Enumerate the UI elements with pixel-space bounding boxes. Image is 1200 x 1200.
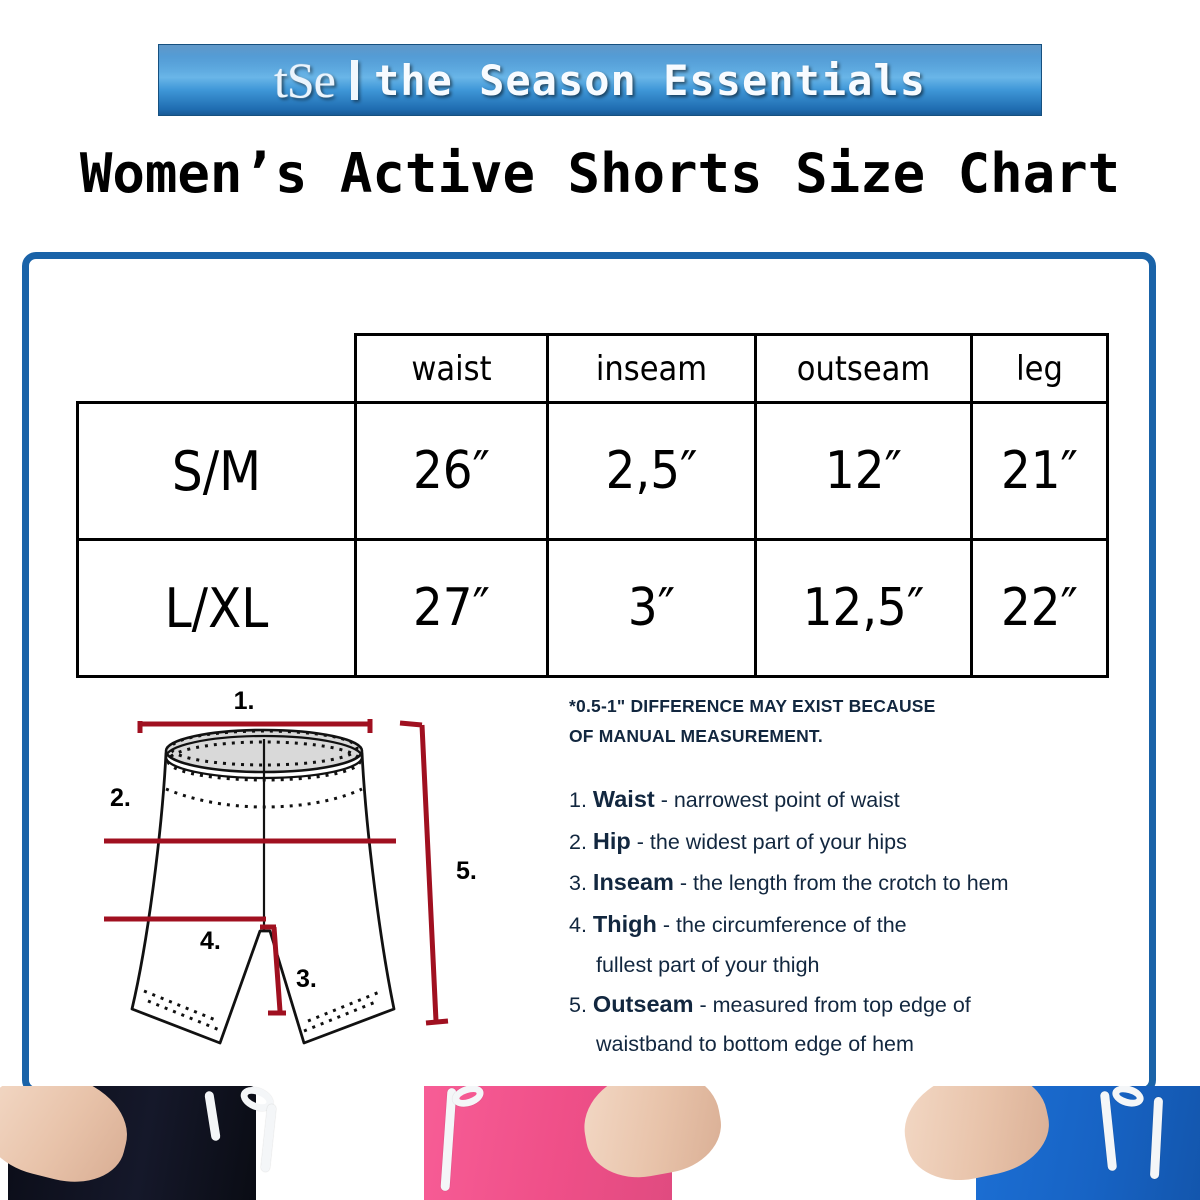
size-table-wrapper: waist inseam outseam leg S/M 26″ 2,5″ 12… [76,333,1106,678]
list-item: waistband to bottom edge of hem [569,1025,1139,1063]
shorts-diagram-svg: 1. 2. 3. 4. 5. [104,691,544,1076]
note-term-3: Inseam [593,869,674,895]
note-term-2: Hip [593,828,631,854]
note-number-2: 2. [569,830,587,854]
cell-lxl-leg: 22″ [972,540,1108,677]
table-row: L/XL 27″ 3″ 12,5″ 22″ [78,540,1108,677]
note-desc-5: - measured from top edge of [699,993,970,1017]
note-number-4: 4. [569,913,587,937]
cell-sm-outseam: 12″ [756,403,972,540]
brand-separator-bar [351,60,358,100]
pink-shorts-photo [400,1086,800,1200]
column-header-leg: leg [972,335,1108,403]
brand-mark-tse: tSe [274,51,335,109]
cell-lxl-inseam: 3″ [548,540,756,677]
cell-sm-leg: 21″ [972,403,1108,540]
black-shorts-photo [0,1086,400,1200]
cell-size-sm: S/M [78,403,356,540]
callout-label-2: 2. [110,784,131,812]
disclaimer-block: *0.5-1" DIFFERENCE MAY EXIST BECAUSE OF … [569,691,1139,751]
cell-size-lxl: L/XL [78,540,356,677]
brand-name-text: the Season Essentials [374,56,926,105]
measurement-definition-list: 1. Waist - narrowest point of waist 2. H… [569,779,1139,1063]
callout-label-5: 5. [456,857,477,885]
note-term-1: Waist [593,786,655,812]
note-desc-3: - the length from the crotch to hem [680,871,1009,895]
callout-label-1: 1. [234,691,255,715]
measure-line-5-outseam [400,723,448,1023]
cell-sm-waist: 26″ [356,403,548,540]
size-table-header-row: waist inseam outseam leg [78,335,1108,403]
list-item: 1. Waist - narrowest point of waist [569,779,1139,821]
list-item: fullest part of your thigh [569,946,1139,984]
size-chart-page: tSe the Season Essentials Women’s Active… [0,0,1200,1200]
column-header-inseam: inseam [548,335,756,403]
column-header-outseam: outseam [756,335,972,403]
table-corner-cell [78,335,356,403]
cell-sm-inseam: 2,5″ [548,403,756,540]
size-table-head: waist inseam outseam leg [78,335,1108,403]
callout-label-4: 4. [200,927,221,955]
drawstring-right [260,1104,276,1173]
note-number-1: 1. [569,788,587,812]
product-photo-strip [0,1086,1200,1200]
callout-label-3: 3. [296,965,317,993]
note-desc-4: - the circumference of the [663,913,907,937]
disclaimer-line-2: OF MANUAL MEASUREMENT. [569,721,1139,751]
measurement-notes: *0.5-1" DIFFERENCE MAY EXIST BECAUSE OF … [569,691,1139,1076]
chart-card: waist inseam outseam leg S/M 26″ 2,5″ 12… [22,252,1156,1094]
note-desc-2: - the widest part of your hips [637,830,907,854]
note-term-5: Outseam [593,991,694,1017]
size-table: waist inseam outseam leg S/M 26″ 2,5″ 12… [76,333,1109,678]
disclaimer-line-1: *0.5-1" DIFFERENCE MAY EXIST BECAUSE [569,691,1139,721]
blue-shorts-photo [800,1086,1200,1200]
note-desc-5-cont: waistband to bottom edge of hem [596,1032,914,1056]
cell-lxl-outseam: 12,5″ [756,540,972,677]
note-desc-1: - narrowest point of waist [661,788,900,812]
page-title: Women’s Active Shorts Size Chart [0,142,1200,205]
column-header-waist: waist [356,335,548,403]
note-desc-4-cont: fullest part of your thigh [596,953,819,977]
list-item: 3. Inseam - the length from the crotch t… [569,862,1139,904]
size-table-body: S/M 26″ 2,5″ 12″ 21″ L/XL 27″ 3″ 12,5″ 2… [78,403,1108,677]
brand-banner: tSe the Season Essentials [158,44,1042,116]
brand-lockup: tSe the Season Essentials [274,51,926,109]
cell-lxl-waist: 27″ [356,540,548,677]
table-row: S/M 26″ 2,5″ 12″ 21″ [78,403,1108,540]
note-number-3: 3. [569,871,587,895]
list-item: 2. Hip - the widest part of your hips [569,821,1139,863]
lower-section: 1. 2. 3. 4. 5. *0.5-1" DIFFERENCE MAY EX… [29,691,1149,1081]
shorts-diagram: 1. 2. 3. 4. 5. [104,691,544,1076]
list-item: 5. Outseam - measured from top edge of [569,984,1139,1026]
note-term-4: Thigh [593,911,657,937]
note-number-5: 5. [569,993,587,1017]
list-item: 4. Thigh - the circumference of the [569,904,1139,946]
